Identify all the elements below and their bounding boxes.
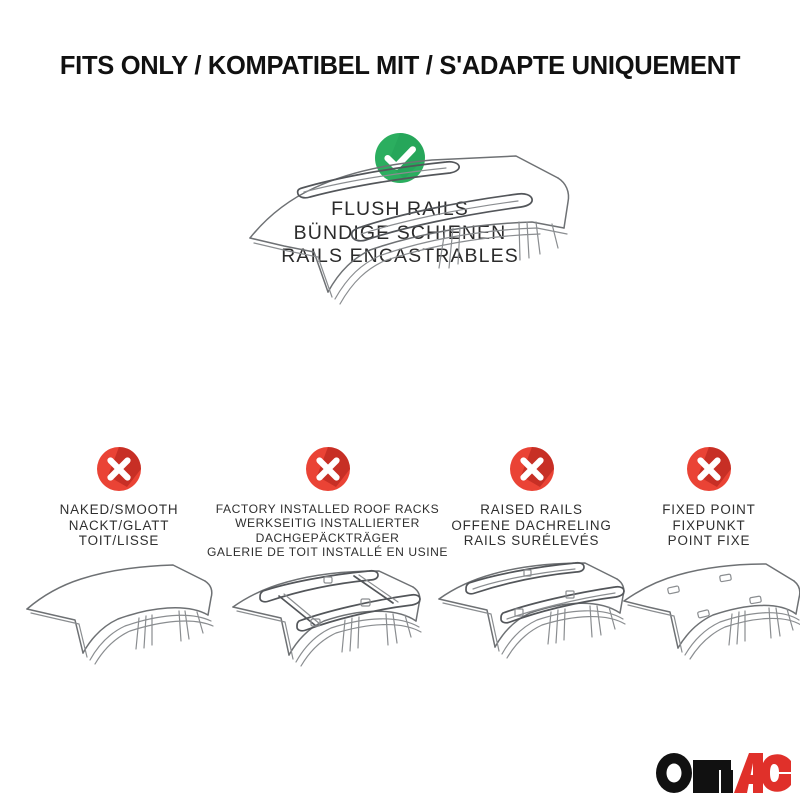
incompatible-option-factory-roof-racks: FACTORY INSTALLED ROOF RACKS WERKSEITIG … (205, 446, 450, 693)
incompatible-options: NAKED/SMOOTH NACKT/GLATT TOIT/LISSE (0, 446, 800, 746)
label-line-en: FIXED POINT (616, 502, 800, 518)
label-line-fr: GALERIE DE TOIT INSTALLÉ EN USINE (205, 545, 450, 559)
car-roof-raised-rails-illustration (424, 553, 639, 683)
label-line-en: RAISED RAILS (424, 502, 639, 518)
incompatible-option-naked-smooth: NAKED/SMOOTH NACKT/GLATT TOIT/LISSE (8, 446, 230, 683)
label-line-en: NAKED/SMOOTH (8, 502, 230, 518)
label-line-de: NACKT/GLATT (8, 518, 230, 534)
car-roof-factory-roof-racks-illustration (205, 563, 450, 693)
cross-circle-icon (305, 446, 351, 492)
label-line-de: OFFENE DACHRELING (424, 518, 639, 534)
page-title: FITS ONLY / KOMPATIBEL MIT / S'ADAPTE UN… (0, 52, 800, 81)
label-line-de: FIXPUNKT (616, 518, 800, 534)
label-line-de-2: DACHGEPÄCKTRÄGER (205, 531, 450, 545)
incompatible-option-raised-rails: RAISED RAILS OFFENE DACHRELING RAILS SUR… (424, 446, 639, 683)
incompatible-option-fixed-point: FIXED POINT FIXPUNKT POINT FIXE (616, 446, 800, 683)
incompatible-label-fixed-point: FIXED POINT FIXPUNKT POINT FIXE (616, 502, 800, 549)
incompatible-label-raised-rails: RAISED RAILS OFFENE DACHRELING RAILS SUR… (424, 502, 639, 549)
incompatible-label-naked-smooth: NAKED/SMOOTH NACKT/GLATT TOIT/LISSE (8, 502, 230, 549)
fitment-infographic: FITS ONLY / KOMPATIBEL MIT / S'ADAPTE UN… (0, 0, 800, 800)
car-roof-naked-smooth-illustration (8, 553, 230, 683)
label-line-en: FACTORY INSTALLED ROOF RACKS (205, 502, 450, 516)
label-line-de-1: WERKSEITIG INSTALLIERTER (205, 516, 450, 530)
label-line-fr: TOIT/LISSE (8, 533, 230, 549)
label-line-fr: POINT FIXE (616, 533, 800, 549)
car-roof-fixed-point-illustration (616, 553, 800, 683)
cross-circle-icon (686, 446, 732, 492)
cross-circle-icon (96, 446, 142, 492)
omac-logo (655, 752, 793, 794)
cross-circle-icon (509, 446, 555, 492)
car-roof-flush-rails-illustration (236, 142, 586, 307)
incompatible-label-factory-roof-racks: FACTORY INSTALLED ROOF RACKS WERKSEITIG … (205, 502, 450, 559)
label-line-fr: RAILS SURÉLEVÉS (424, 533, 639, 549)
